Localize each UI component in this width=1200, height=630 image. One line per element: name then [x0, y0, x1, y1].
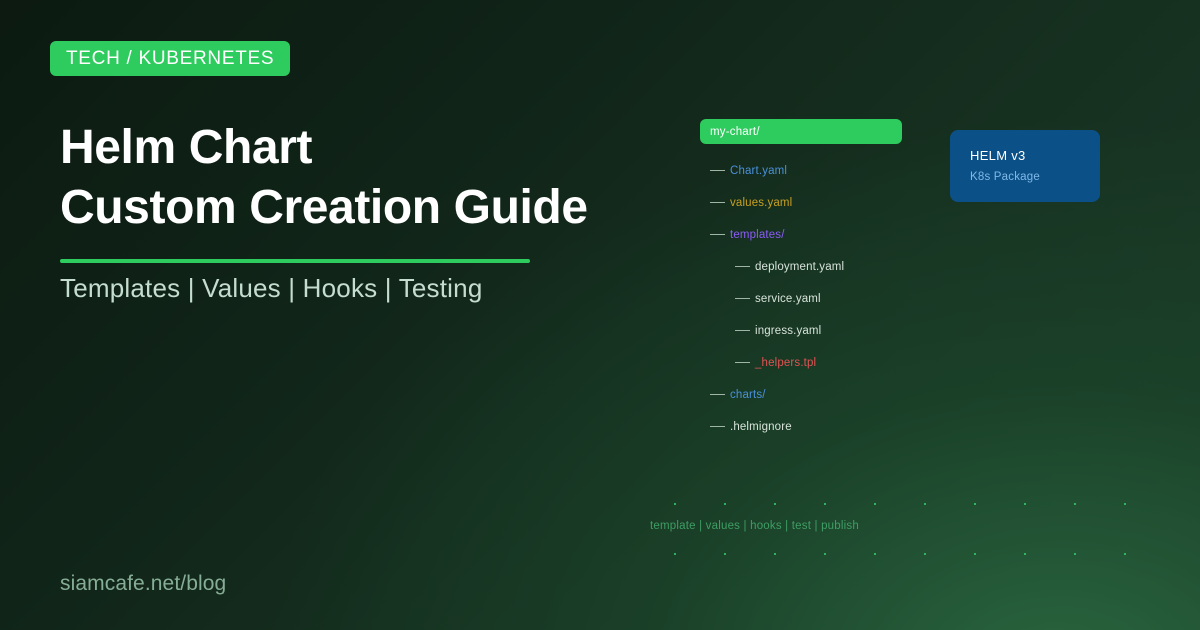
tree-branch-icon [710, 202, 725, 203]
file-tree-item-label: ingress.yaml [755, 325, 821, 337]
file-tree-item-label: service.yaml [755, 293, 821, 305]
category-badge: TECH / KUBERNETES [50, 41, 290, 76]
slide-canvas: TECH / KUBERNETES Helm Chart Custom Crea… [0, 0, 1200, 630]
file-tree-item[interactable]: templates/ [700, 229, 940, 240]
file-tree-item[interactable]: ingress.yaml [700, 325, 940, 336]
tree-branch-icon [735, 266, 750, 267]
page-title: Helm Chart Custom Creation Guide [60, 118, 700, 238]
file-tree-item-label: charts/ [730, 389, 766, 401]
keyword-strip: template | values | hooks | test | publi… [650, 520, 859, 532]
file-tree-item-label: .helmignore [730, 421, 792, 433]
page-subtitle: Templates | Values | Hooks | Testing [60, 273, 482, 304]
file-tree-root-label: my-chart/ [710, 126, 760, 138]
site-url-label: siamcafe.net/blog [60, 572, 226, 596]
file-tree-item[interactable]: service.yaml [700, 293, 940, 304]
file-tree-root[interactable]: my-chart/ [700, 119, 902, 144]
file-tree-item[interactable]: charts/ [700, 389, 940, 400]
helm-card-title: HELM v3 [970, 148, 1100, 164]
helm-version-card: HELM v3 K8s Package [950, 130, 1100, 202]
file-tree-item-label: _helpers.tpl [755, 357, 816, 369]
dot-grid-decoration [645, 474, 1165, 594]
tree-branch-icon [710, 234, 725, 235]
file-tree-item[interactable]: _helpers.tpl [700, 357, 940, 368]
tree-branch-icon [735, 362, 750, 363]
category-badge-label: TECH / KUBERNETES [66, 48, 274, 70]
page-title-line-2: Custom Creation Guide [60, 178, 700, 238]
file-tree-item[interactable]: values.yaml [700, 197, 940, 208]
file-tree-item[interactable]: Chart.yaml [700, 165, 940, 176]
file-tree-item-label: deployment.yaml [755, 261, 844, 273]
tree-branch-icon [710, 394, 725, 395]
file-tree-item-label: Chart.yaml [730, 165, 787, 177]
file-tree-rows: Chart.yamlvalues.yamltemplates/deploymen… [700, 165, 940, 432]
page-title-line-1: Helm Chart [60, 118, 700, 178]
tree-branch-icon [710, 170, 725, 171]
helm-card-subtitle: K8s Package [970, 170, 1100, 184]
file-tree-item-label: templates/ [730, 229, 785, 241]
tree-branch-icon [735, 298, 750, 299]
file-tree-item[interactable]: deployment.yaml [700, 261, 940, 272]
tree-branch-icon [735, 330, 750, 331]
file-tree: my-chart/ Chart.yamlvalues.yamltemplates… [700, 119, 940, 432]
tree-branch-icon [710, 426, 725, 427]
file-tree-item-label: values.yaml [730, 197, 792, 209]
accent-divider [60, 259, 530, 263]
file-tree-item[interactable]: .helmignore [700, 421, 940, 432]
